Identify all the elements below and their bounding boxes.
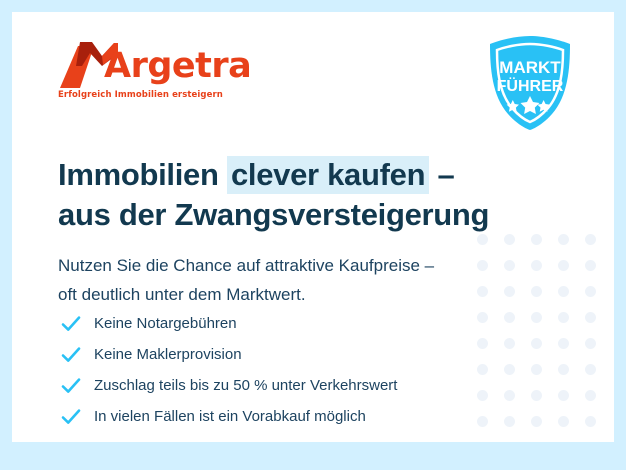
page-title: Immobilien clever kaufen – aus der Zwang…: [58, 155, 489, 235]
check-icon: [60, 406, 82, 428]
subtitle-line-1: Nutzen Sie die Chance auf attraktive Kau…: [58, 256, 434, 275]
subtitle: Nutzen Sie die Chance auf attraktive Kau…: [58, 251, 434, 309]
logo-wordmark: Argetra: [104, 45, 251, 87]
badge-line-2: FÜHRER: [497, 76, 564, 95]
logo-tagline: Erfolgreich Immobilien ersteigern: [58, 90, 258, 100]
headline-text-post: –: [429, 157, 454, 192]
list-item: Keine Notargebühren: [60, 308, 397, 339]
badge-line-1: MARKT: [499, 58, 561, 77]
headline-highlight: clever kaufen: [227, 156, 429, 194]
check-icon: [60, 344, 82, 366]
list-item-label: Zuschlag teils bis zu 50 % unter Verkehr…: [94, 376, 397, 396]
list-item: Zuschlag teils bis zu 50 % unter Verkehr…: [60, 370, 397, 401]
list-item-label: Keine Notargebühren: [94, 314, 237, 334]
headline-line-1: Immobilien clever kaufen –: [58, 156, 455, 194]
list-item-label: In vielen Fällen ist ein Vorabkauf mögli…: [94, 407, 366, 427]
headline-line-2: aus der Zwangsversteigerung: [58, 197, 489, 232]
check-icon: [60, 375, 82, 397]
benefits-checklist: Keine Notargebühren Keine Maklerprovisio…: [60, 308, 397, 432]
banner-card: Argetra Erfolgreich Immobilien ersteiger…: [12, 12, 614, 442]
argetra-logo[interactable]: Argetra Erfolgreich Immobilien ersteiger…: [58, 40, 258, 100]
market-leader-badge: MARKT FÜHRER: [482, 34, 578, 132]
list-item-label: Keine Maklerprovision: [94, 345, 242, 365]
headline-text-pre: Immobilien: [58, 157, 227, 192]
list-item: Keine Maklerprovision: [60, 339, 397, 370]
check-icon: [60, 313, 82, 335]
promo-banner: Argetra Erfolgreich Immobilien ersteiger…: [0, 0, 626, 470]
subtitle-line-2: oft deutlich unter dem Marktwert.: [58, 285, 306, 304]
logo-main-row: Argetra: [58, 40, 258, 88]
dot-grid-decoration: [477, 234, 612, 442]
list-item: In vielen Fällen ist ein Vorabkauf mögli…: [60, 401, 397, 432]
